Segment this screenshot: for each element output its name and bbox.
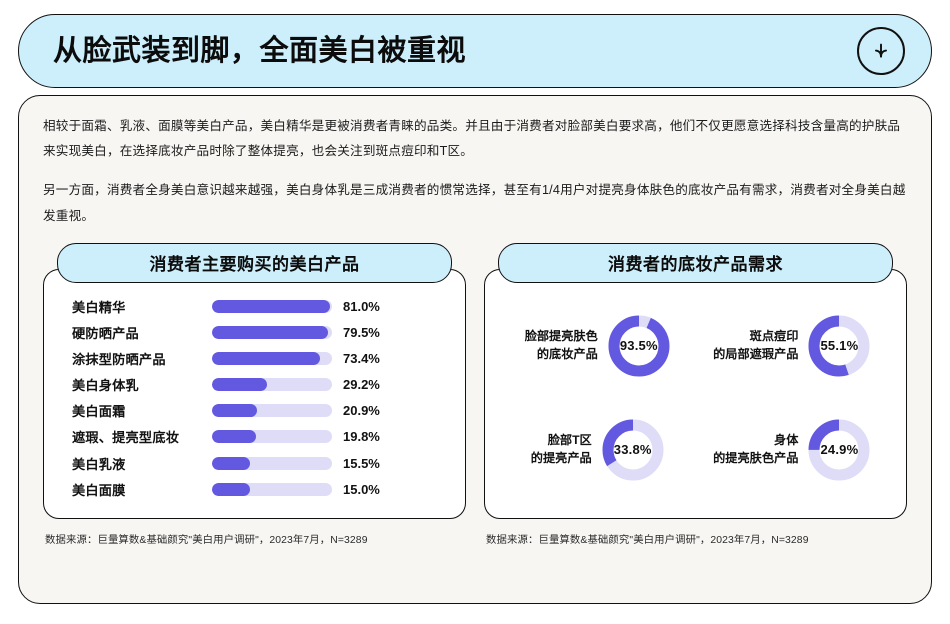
donut-chart-group: 脸部提亮肤色的底妆产品93.5%斑点痘印的局部遮瑕产品55.1%脸部T区的提亮产… — [501, 294, 890, 502]
left-panel-header: 消费者主要购买的美白产品 — [57, 243, 452, 283]
bar-label: 美白面霜 — [60, 401, 212, 420]
bar-row: 美白面霜20.9% — [60, 398, 449, 423]
bar-fill — [212, 326, 328, 339]
bar-track — [212, 352, 332, 365]
donut-ring: 55.1% — [806, 313, 872, 379]
intro-text: 相较于面霜、乳液、面膜等美白产品，美白精华是更被消费者青睐的品类。并且由于消费者… — [43, 114, 907, 229]
right-source-note: 数据来源：巨量算数&基础颜究"美白用户调研"，2023年7月，N=3289 — [484, 531, 907, 546]
intro-paragraph-1: 相较于面霜、乳液、面膜等美白产品，美白精华是更被消费者青睐的品类。并且由于消费者… — [43, 114, 907, 164]
donut-ring: 33.8% — [600, 417, 666, 483]
donut-label-line2: 的提亮产品 — [531, 450, 592, 468]
bar-track — [212, 326, 332, 339]
bar-fill — [212, 483, 250, 496]
header-banner: 从脸武装到脚，全面美白被重视 — [18, 14, 932, 88]
donut-label-line1: 身体 — [713, 432, 798, 450]
donut-value: 55.1% — [806, 313, 872, 379]
bar-fill — [212, 430, 256, 443]
bar-row: 美白面膜15.0% — [60, 477, 449, 502]
bar-value: 79.5% — [332, 325, 449, 340]
panel-whitening-products: 消费者主要购买的美白产品 美白精华81.0%硬防晒产品79.5%涂抹型防晒产品7… — [43, 243, 466, 519]
donut-item: 脸部提亮肤色的底妆产品93.5% — [501, 313, 696, 379]
donut-label: 斑点痘印的局部遮瑕产品 — [713, 328, 798, 363]
donut-ring: 93.5% — [606, 313, 672, 379]
panel-base-makeup-demand: 消费者的底妆产品需求 脸部提亮肤色的底妆产品93.5%斑点痘印的局部遮瑕产品55… — [484, 243, 907, 519]
donut-item: 斑点痘印的局部遮瑕产品55.1% — [696, 313, 891, 379]
right-panel-title: 消费者的底妆产品需求 — [608, 250, 783, 275]
donut-label-line2: 的提亮肤色产品 — [713, 450, 798, 468]
donut-item: 脸部T区的提亮产品33.8% — [501, 417, 696, 483]
intro-paragraph-2: 另一方面，消费者全身美白意识越来越强，美白身体乳是三成消费者的惯常选择，甚至有1… — [43, 178, 907, 228]
bar-fill — [212, 352, 320, 365]
bar-row: 美白精华81.0% — [60, 294, 449, 319]
donut-value: 93.5% — [606, 313, 672, 379]
sources-row: 数据来源：巨量算数&基础颜究"美白用户调研"，2023年7月，N=3289 数据… — [43, 531, 907, 546]
bar-label: 美白身体乳 — [60, 375, 212, 394]
donut-ring: 24.9% — [806, 417, 872, 483]
bar-row: 涂抹型防晒产品73.4% — [60, 346, 449, 371]
donut-label-line1: 斑点痘印 — [713, 328, 798, 346]
bar-chart: 美白精华81.0%硬防晒产品79.5%涂抹型防晒产品73.4%美白身体乳29.2… — [60, 294, 449, 502]
bar-fill — [212, 457, 250, 470]
bar-row: 美白身体乳29.2% — [60, 372, 449, 397]
bar-value: 20.9% — [332, 403, 449, 418]
bar-fill — [212, 404, 257, 417]
bar-value: 29.2% — [332, 377, 449, 392]
donut-label-line2: 的局部遮瑕产品 — [713, 346, 798, 364]
right-panel-card: 脸部提亮肤色的底妆产品93.5%斑点痘印的局部遮瑕产品55.1%脸部T区的提亮产… — [484, 269, 907, 519]
arrow-down-circle-icon[interactable] — [857, 27, 905, 75]
left-panel-card: 美白精华81.0%硬防晒产品79.5%涂抹型防晒产品73.4%美白身体乳29.2… — [43, 269, 466, 519]
bar-fill — [212, 300, 330, 313]
left-panel-title: 消费者主要购买的美白产品 — [150, 250, 360, 275]
bar-value: 73.4% — [332, 351, 449, 366]
bar-label: 遮瑕、提亮型底妆 — [60, 427, 212, 446]
bar-row: 遮瑕、提亮型底妆19.8% — [60, 424, 449, 449]
bar-track — [212, 457, 332, 470]
bar-label: 美白乳液 — [60, 454, 212, 473]
bar-track — [212, 404, 332, 417]
infographic-page: 从脸武装到脚，全面美白被重视 相较于面霜、乳液、面膜等美白产品，美白精华是更被消… — [0, 0, 950, 624]
donut-label: 身体的提亮肤色产品 — [713, 432, 798, 467]
donut-label-line1: 脸部T区 — [531, 432, 592, 450]
bar-track — [212, 483, 332, 496]
bar-value: 81.0% — [332, 299, 449, 314]
donut-label-line2: 的底妆产品 — [525, 346, 598, 364]
donut-value: 33.8% — [600, 417, 666, 483]
bar-value: 15.0% — [332, 482, 449, 497]
left-source-note: 数据来源：巨量算数&基础颜究"美白用户调研"，2023年7月，N=3289 — [43, 531, 466, 546]
bar-fill — [212, 378, 267, 391]
bar-label: 美白精华 — [60, 297, 212, 316]
bar-row: 硬防晒产品79.5% — [60, 320, 449, 345]
page-title: 从脸武装到脚，全面美白被重视 — [53, 37, 857, 66]
donut-item: 身体的提亮肤色产品24.9% — [696, 417, 891, 483]
bar-label: 硬防晒产品 — [60, 323, 212, 342]
content-card: 相较于面霜、乳液、面膜等美白产品，美白精华是更被消费者青睐的品类。并且由于消费者… — [18, 95, 932, 604]
bar-row: 美白乳液15.5% — [60, 451, 449, 476]
panels-row: 消费者主要购买的美白产品 美白精华81.0%硬防晒产品79.5%涂抹型防晒产品7… — [43, 243, 907, 519]
donut-label: 脸部提亮肤色的底妆产品 — [525, 328, 598, 363]
bar-track — [212, 300, 332, 313]
bar-value: 19.8% — [332, 429, 449, 444]
bar-value: 15.5% — [332, 456, 449, 471]
bar-label: 涂抹型防晒产品 — [60, 349, 212, 368]
donut-label-line1: 脸部提亮肤色 — [525, 328, 598, 346]
donut-label: 脸部T区的提亮产品 — [531, 432, 592, 467]
donut-value: 24.9% — [806, 417, 872, 483]
bar-track — [212, 430, 332, 443]
bar-label: 美白面膜 — [60, 480, 212, 499]
bar-track — [212, 378, 332, 391]
right-panel-header: 消费者的底妆产品需求 — [498, 243, 893, 283]
